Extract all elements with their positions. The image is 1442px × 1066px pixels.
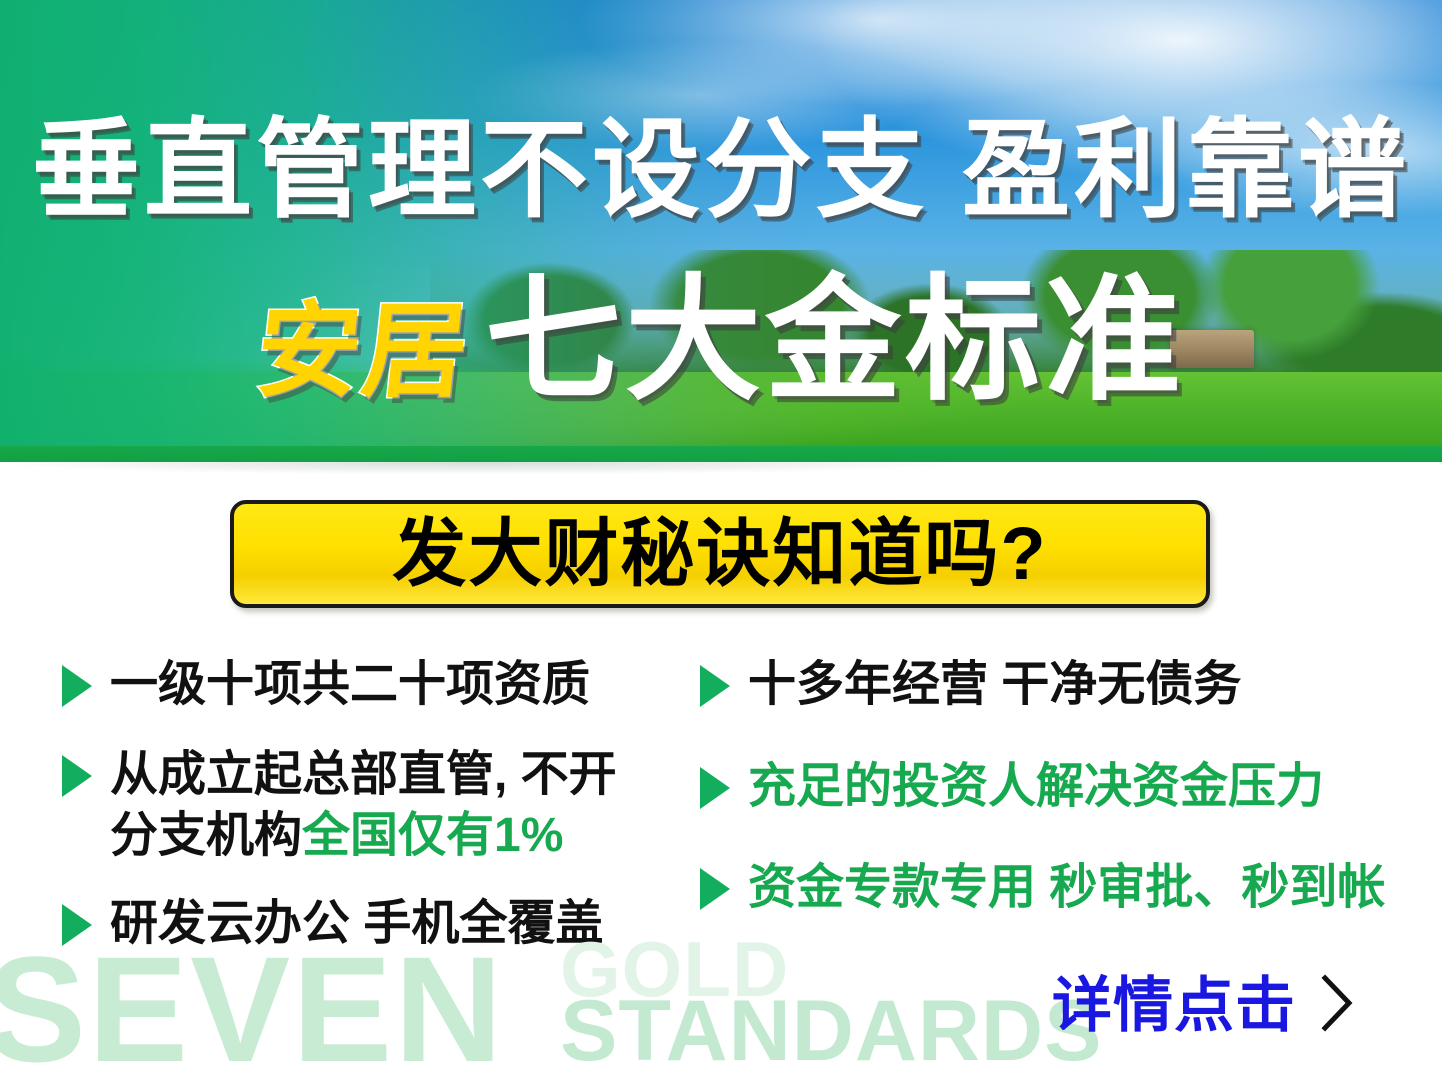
headline-primary: 垂直管理不设分支 盈利靠谱: [0, 116, 1442, 224]
feature-line: 从成立起总部直管, 不开: [110, 745, 617, 805]
feature-line-two: 分支机构全国仅有1%: [110, 806, 617, 866]
headline-secondary-main: 七大金标准: [485, 264, 1185, 416]
feature-item: 从成立起总部直管, 不开 分支机构全国仅有1%: [62, 745, 682, 866]
feature-line: 充足的投资人解决资金压力: [748, 757, 1324, 817]
feature-line-two-black: 分支机构: [110, 809, 302, 862]
feature-text: 研发云办公 手机全覆盖: [110, 894, 603, 954]
headline-secondary: 安居七大金标准: [0, 272, 1442, 408]
question-banner-button[interactable]: 发大财秘诀知道吗?: [230, 500, 1210, 608]
triangle-bullet-icon: [62, 755, 92, 797]
feature-line: 研发云办公 手机全覆盖: [110, 894, 603, 954]
promotional-banner: 垂直管理不设分支 盈利靠谱 安居七大金标准 发大财秘诀知道吗? 一级十项共二十项…: [0, 0, 1442, 1066]
chevron-right-icon: [1318, 972, 1356, 1039]
triangle-bullet-icon: [700, 868, 730, 910]
feature-text: 十多年经营 干净无债务: [748, 655, 1241, 715]
feature-list: 一级十项共二十项资质 从成立起总部直管, 不开 分支机构全国仅有1% 研发云办公…: [0, 655, 1442, 985]
details-link-label: 详情点击: [1052, 976, 1296, 1036]
triangle-bullet-icon: [62, 904, 92, 946]
feature-line: 资金专款专用 秒审批、秒到帐: [748, 858, 1385, 918]
feature-item: 研发云办公 手机全覆盖: [62, 894, 682, 954]
triangle-bullet-icon: [62, 665, 92, 707]
details-link[interactable]: 详情点击: [1052, 972, 1356, 1039]
feature-highlight-green: 全国仅有1%: [302, 809, 563, 862]
feature-item: 资金专款专用 秒审批、秒到帐: [700, 858, 1400, 918]
feature-text: 充足的投资人解决资金压力: [748, 757, 1324, 817]
triangle-bullet-icon: [700, 665, 730, 707]
watermark-standards: STANDARDS: [560, 988, 1103, 1066]
feature-item: 十多年经营 干净无债务: [700, 655, 1400, 715]
feature-line: 一级十项共二十项资质: [110, 655, 590, 715]
feature-column-left: 一级十项共二十项资质 从成立起总部直管, 不开 分支机构全国仅有1% 研发云办公…: [62, 655, 682, 983]
triangle-bullet-icon: [700, 767, 730, 809]
feature-item: 一级十项共二十项资质: [62, 655, 682, 715]
feature-text: 从成立起总部直管, 不开 分支机构全国仅有1%: [110, 745, 617, 866]
feature-text: 资金专款专用 秒审批、秒到帐: [748, 858, 1385, 918]
feature-text: 一级十项共二十项资质: [110, 655, 590, 715]
hero-drop-shadow: [0, 462, 1442, 478]
hero-bottom-strip: [0, 446, 1442, 462]
feature-item: 充足的投资人解决资金压力: [700, 757, 1400, 817]
feature-line: 十多年经营 干净无债务: [748, 655, 1241, 715]
question-banner-label: 发大财秘诀知道吗?: [392, 517, 1047, 591]
feature-column-right: 十多年经营 干净无债务 充足的投资人解决资金压力 资金专款专用 秒审批、秒到帐: [700, 655, 1400, 946]
brand-name-text: 安居: [252, 300, 475, 404]
